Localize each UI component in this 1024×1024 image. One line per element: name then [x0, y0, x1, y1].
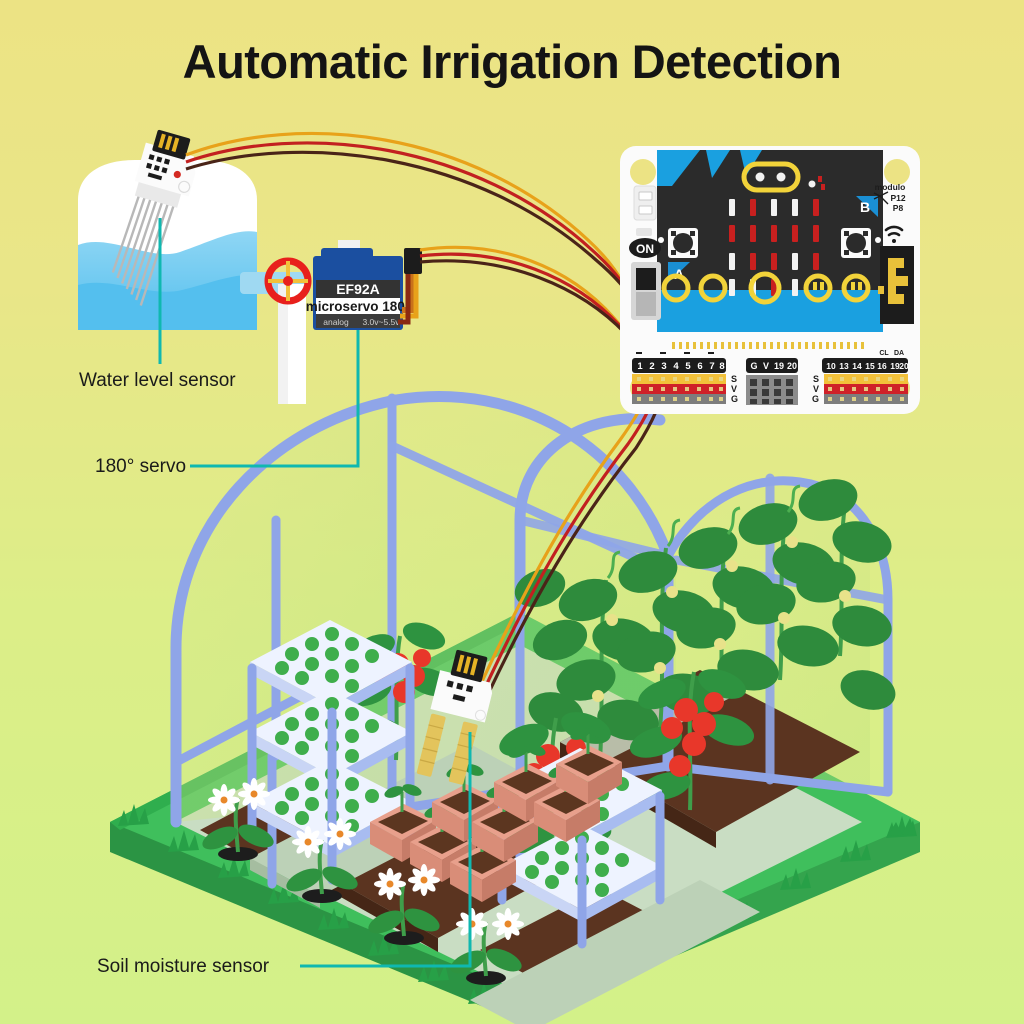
servo-signal: analog — [323, 317, 349, 327]
callout-soil-moisture-sensor: Soil moisture sensor — [97, 956, 269, 978]
callout-servo: 180° servo — [95, 456, 186, 478]
svg-text:16: 16 — [877, 361, 887, 371]
reset-button[interactable] — [636, 228, 652, 236]
center-pin-19: 19 — [774, 361, 784, 371]
module-pin-p12: P12 — [890, 193, 905, 203]
svg-text:10: 10 — [826, 361, 836, 371]
row-label-g-right: G — [812, 394, 819, 404]
pin-header-center: G V 19 20 — [746, 358, 798, 405]
button-b-label: B — [860, 199, 870, 215]
row-label-g-left: G — [731, 394, 738, 404]
servo-voltage: 3.0v~5.5v — [362, 317, 400, 327]
wire-bundle-servo — [420, 247, 648, 364]
svg-text:13: 13 — [839, 361, 849, 371]
scene-illustration: EF92A microservo 180° analog 3.0v~5.5v — [0, 0, 1024, 1024]
center-pin-g: G — [750, 361, 757, 371]
svg-text:1: 1 — [637, 361, 643, 372]
right-note-cl: CL — [879, 350, 889, 357]
illustration-canvas: Automatic Irrigation Detection — [0, 0, 1024, 1024]
svg-text:20: 20 — [899, 361, 909, 371]
svg-text:7: 7 — [709, 361, 714, 372]
module-pin-p8: P8 — [893, 203, 904, 213]
svg-text:5: 5 — [685, 361, 691, 372]
usb-connector — [634, 186, 656, 220]
right-note-da: DA — [894, 350, 904, 357]
center-pin-v: V — [763, 361, 769, 371]
row-label-v-left: V — [731, 384, 737, 394]
callout-water-level-sensor: Water level sensor — [79, 370, 236, 392]
valve-target-icon — [268, 261, 308, 301]
center-pin-20: 20 — [787, 361, 797, 371]
power-switch[interactable]: ON — [629, 238, 661, 320]
servo-motor: EF92A microservo 180° analog 3.0v~5.5v — [306, 240, 422, 330]
antenna — [878, 246, 914, 324]
svg-text:14: 14 — [852, 361, 862, 371]
servo-type: microservo 180° — [306, 299, 410, 314]
module-label: modulo — [875, 182, 906, 192]
svg-text:3: 3 — [661, 361, 666, 372]
pin-header-left: 12 34 56 78 — [632, 352, 738, 404]
row-label-s-left: S — [731, 374, 737, 384]
row-label-v-right: V — [813, 384, 819, 394]
svg-text:6: 6 — [697, 361, 702, 372]
row-label-s-right: S — [813, 374, 819, 384]
svg-text:2: 2 — [649, 361, 654, 372]
svg-text:15: 15 — [865, 361, 875, 371]
power-label: ON — [636, 242, 654, 256]
svg-text:4: 4 — [673, 361, 679, 372]
svg-text:8: 8 — [719, 361, 724, 372]
microbit-board: A B — [620, 146, 920, 414]
pin-header-right: CL DA 1013 1415 1619 20 — [812, 350, 909, 404]
servo-model: EF92A — [336, 281, 380, 297]
